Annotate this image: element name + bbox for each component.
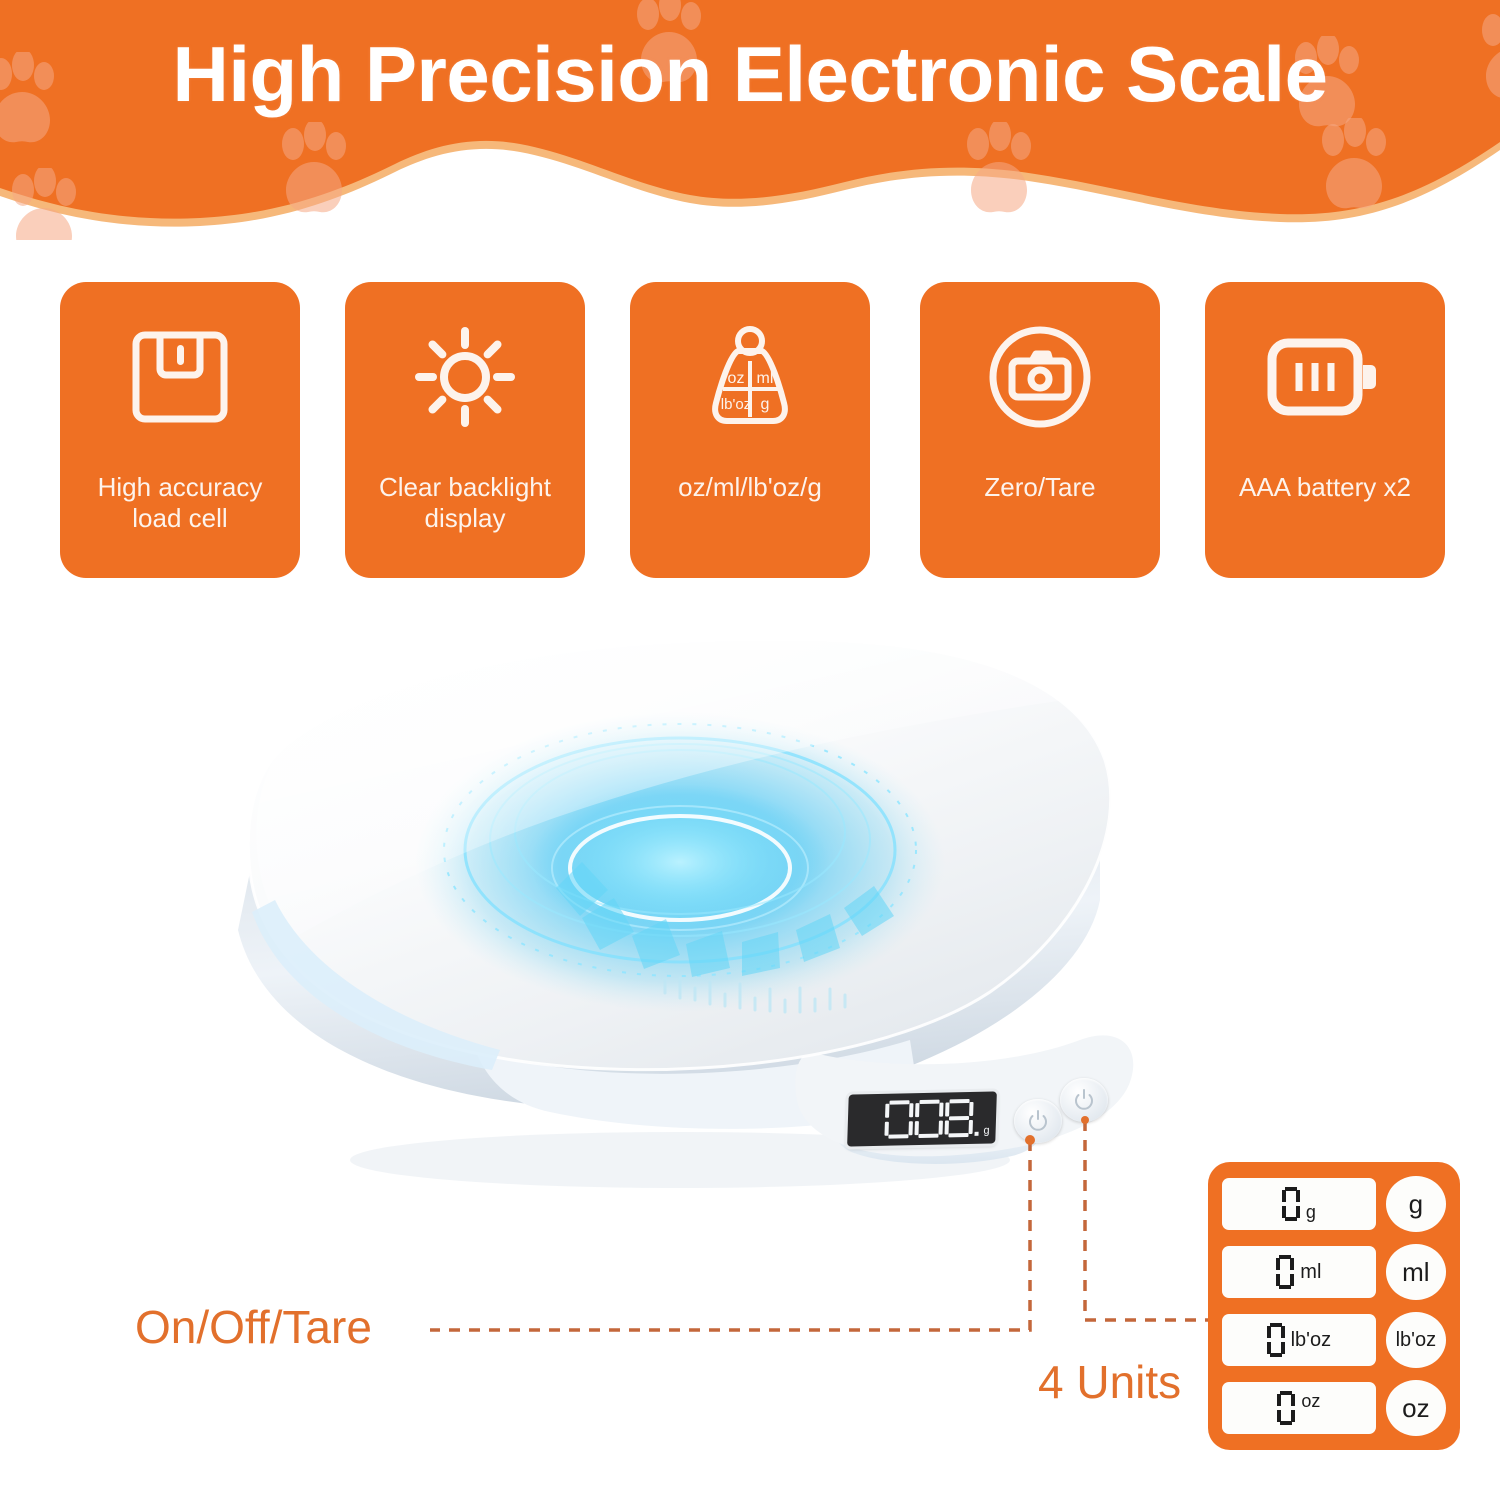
lcd-decimal-point <box>974 1132 978 1136</box>
lcd-digit-group: g <box>884 1099 990 1139</box>
feature-card-load-cell[interactable]: High accuracy load cell <box>60 282 300 578</box>
feature-card-list: High accuracy load cell Clear backlight … <box>0 282 1500 578</box>
feature-card-label: Clear backlight display <box>355 472 576 533</box>
power-icon <box>1014 1099 1062 1143</box>
paw-print-icon <box>1310 118 1396 218</box>
feature-card-label: AAA battery x2 <box>1215 472 1436 503</box>
svg-text:ml: ml <box>757 370 774 387</box>
unit-screen-label: oz <box>1301 1392 1320 1410</box>
paw-print-icon <box>270 122 356 222</box>
feature-card-label: High accuracy load cell <box>70 472 291 533</box>
feature-card-battery[interactable]: AAA battery x2 <box>1205 282 1445 578</box>
mini-seg-digit <box>1267 1323 1285 1357</box>
paw-print-icon <box>0 168 86 240</box>
feature-card-backlight[interactable]: Clear backlight display <box>345 282 585 578</box>
scale-lcd-display: g <box>847 1091 997 1146</box>
pet-scale-image <box>120 600 1200 1240</box>
unit-screen-lboz: lb'oz <box>1222 1314 1376 1366</box>
feature-card-zero-tare[interactable]: Zero/Tare <box>920 282 1160 578</box>
callout-label-units: 4 Units <box>1038 1355 1181 1409</box>
sun-icon <box>345 282 585 472</box>
power-tare-button-left[interactable] <box>1014 1099 1062 1143</box>
mini-seg-digit <box>1282 1187 1300 1221</box>
unit-screen-g: g <box>1222 1178 1376 1230</box>
feature-card-units[interactable]: oz ml lb'oz g oz/ml/lb'oz/g <box>630 282 870 578</box>
unit-bubble-g[interactable]: g <box>1386 1176 1446 1232</box>
unit-bubble-oz[interactable]: oz <box>1386 1380 1446 1436</box>
unit-screen-label: ml <box>1300 1262 1321 1282</box>
unit-screen-label: g <box>1306 1203 1316 1221</box>
unit-bubble-lboz[interactable]: lb'oz <box>1386 1312 1446 1368</box>
svg-text:lb'oz: lb'oz <box>721 396 751 413</box>
feature-card-label: oz/ml/lb'oz/g <box>640 472 861 503</box>
camera-circle-icon <box>920 282 1160 472</box>
unit-screen-oz: oz <box>1222 1382 1376 1434</box>
mini-seg-digit <box>1276 1255 1294 1289</box>
paw-print-icon <box>955 122 1041 222</box>
units-panel: g g ml ml lb'oz lb'oz o <box>1208 1162 1460 1450</box>
svg-text:oz: oz <box>728 370 745 387</box>
battery-icon <box>1205 282 1445 472</box>
unit-row[interactable]: lb'oz lb'oz <box>1222 1312 1446 1368</box>
lcd-digit <box>884 1100 913 1139</box>
lcd-digit <box>914 1100 943 1139</box>
mini-seg-digit <box>1277 1391 1295 1425</box>
load-cell-icon <box>60 282 300 472</box>
unit-row[interactable]: g g <box>1222 1176 1446 1232</box>
power-icon <box>1060 1078 1108 1122</box>
lcd-digit <box>944 1099 973 1138</box>
unit-bubble-ml[interactable]: ml <box>1386 1244 1446 1300</box>
unit-row[interactable]: oz oz <box>1222 1380 1446 1436</box>
unit-row[interactable]: ml ml <box>1222 1244 1446 1300</box>
callout-label-onoff: On/Off/Tare <box>135 1300 372 1354</box>
unit-screen-label: lb'oz <box>1291 1330 1332 1350</box>
feature-card-label: Zero/Tare <box>930 472 1151 503</box>
header-banner: High Precision Electronic Scale <box>0 0 1500 240</box>
svg-text:g: g <box>761 396 770 413</box>
lcd-unit-label: g <box>983 1125 990 1137</box>
unit-button-right[interactable] <box>1060 1078 1108 1122</box>
weight-units-icon: oz ml lb'oz g <box>630 282 870 472</box>
page-title: High Precision Electronic Scale <box>0 30 1500 120</box>
unit-screen-ml: ml <box>1222 1246 1376 1298</box>
